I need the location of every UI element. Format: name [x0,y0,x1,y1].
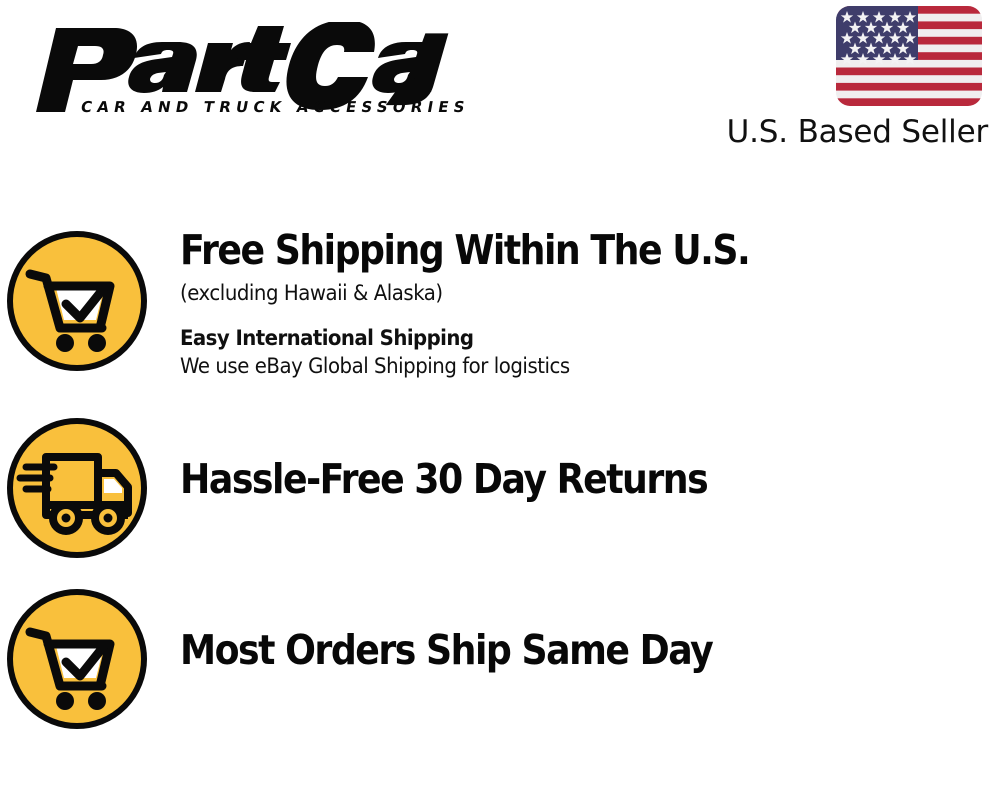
feature-heading: Free Shipping Within The U.S. [180,230,906,272]
feature-subheading: Easy International Shipping [180,327,951,351]
brand-logo[interactable]: CAR AND TRUCK ACCESSORIES PartCatalog CA… [22,22,492,117]
feature-heading: Most Orders Ship Same Day [180,630,906,672]
feature-subdetail: We use eBay Global Shipping for logistic… [180,355,951,379]
seller-badge: U.S. Based Seller [720,6,990,148]
shopping-cart-check-icon [4,586,150,732]
feature-text: Most Orders Ship Same Day [148,586,1000,672]
shopping-cart-check-icon [4,228,150,374]
delivery-truck-icon [4,415,150,561]
feature-row: Hassle-Free 30 Day Returns [0,415,1000,561]
header: CAR AND TRUCK ACCESSORIES PartCatalog CA… [0,0,1000,175]
feature-icon-badge [0,415,148,561]
us-flag-icon [836,6,982,106]
feature-text: Free Shipping Within The U.S. (excluding… [148,228,1000,378]
feature-icon-badge [0,228,148,374]
feature-icon-badge [0,586,148,732]
feature-text: Hassle-Free 30 Day Returns [148,415,1000,501]
feature-row: Most Orders Ship Same Day [0,586,1000,732]
feature-heading: Hassle-Free 30 Day Returns [180,459,906,501]
feature-subnote: (excluding Hawaii & Alaska) [180,282,951,306]
seller-badge-label: U.S. Based Seller [720,117,990,148]
feature-row: Free Shipping Within The U.S. (excluding… [0,228,1000,378]
